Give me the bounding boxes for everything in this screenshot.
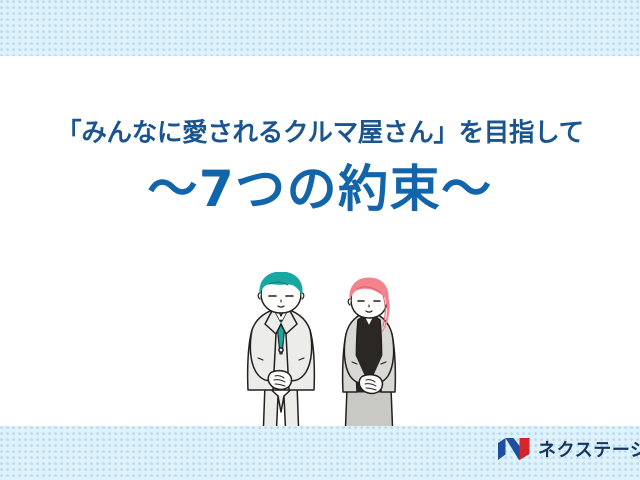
female-staff-figure xyxy=(343,278,396,440)
male-staff-figure xyxy=(248,272,315,440)
headline-secondary-text: 〜7つの約束〜 xyxy=(0,162,640,216)
staff-illustration-svg xyxy=(232,272,422,440)
headline-block: 「みんなに愛されるクルマ屋さん」を目指して 〜7つの約束〜 xyxy=(0,118,640,216)
headline-primary-text: 「みんなに愛されるクルマ屋さん」を目指して xyxy=(0,118,640,148)
two-bowing-staff-illustration xyxy=(232,272,422,440)
nexstage-wordmark: ネクステージ xyxy=(538,436,640,462)
top-dot-band xyxy=(0,0,640,56)
promo-banner: 「みんなに愛されるクルマ屋さん」を目指して 〜7つの約束〜 xyxy=(0,0,640,480)
nexstage-logo: ネクステージ xyxy=(497,436,640,462)
nexstage-n-mark-icon xyxy=(497,437,531,461)
